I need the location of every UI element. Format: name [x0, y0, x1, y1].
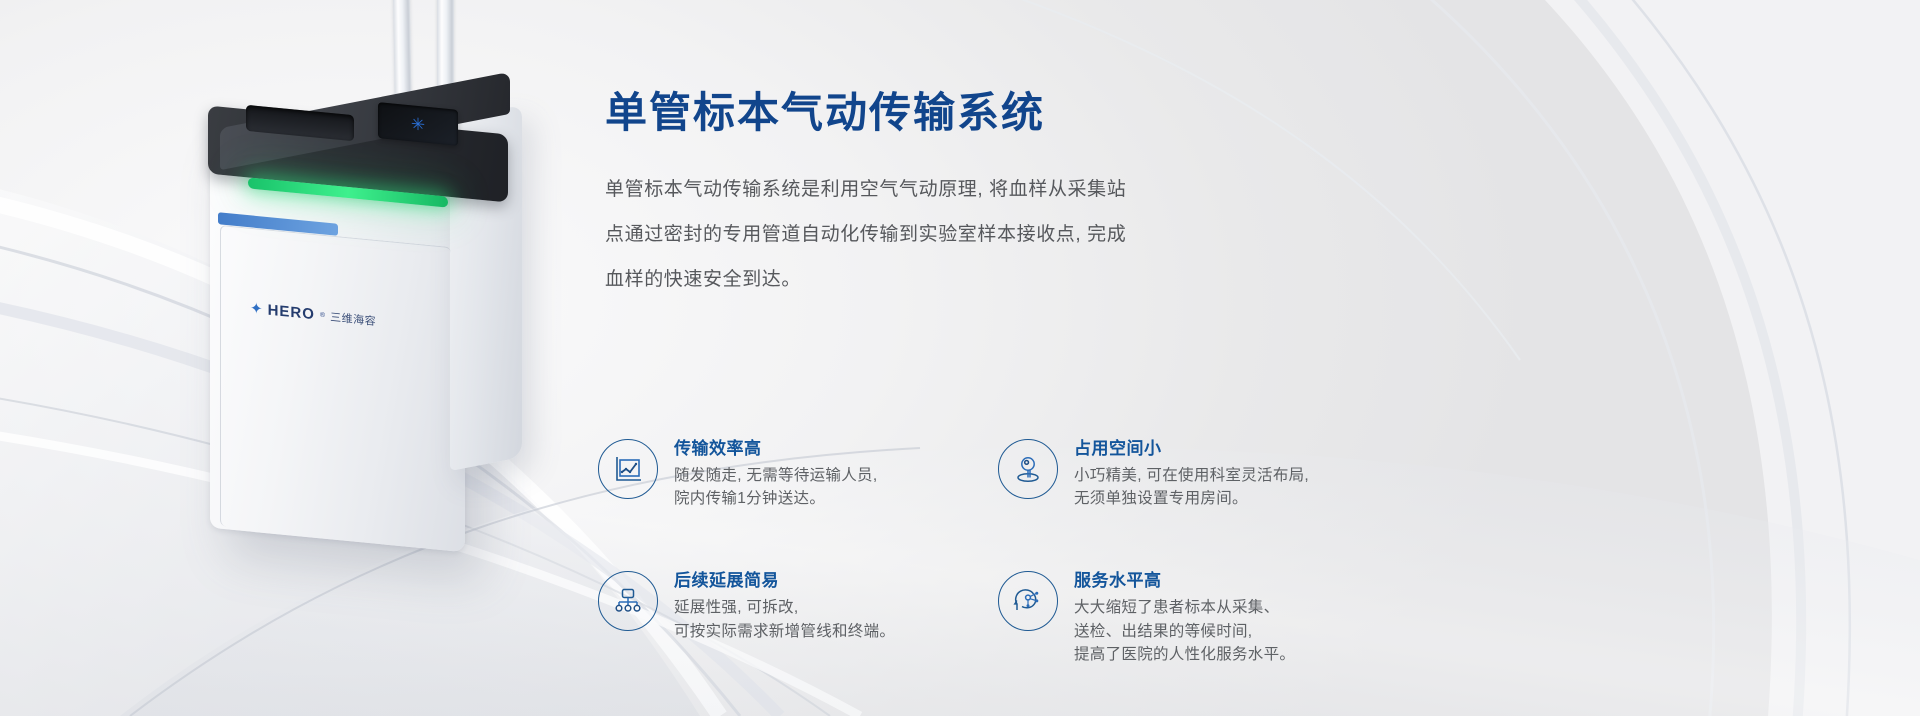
feature-text: 传输效率高 随发随走, 无需等待运输人员, 院内传输1分钟送达。: [674, 437, 877, 511]
feature-line: 提高了医院的人性化服务水平。: [1074, 643, 1295, 667]
feature-item-easy-expansion: 后续延展简易 延展性强, 可拆改, 可按实际需求新增管线和终端。: [598, 569, 998, 667]
banner-description: 单管标本气动传输系统是利用空气气动原理, 将血样从采集站 点通过密封的专用管道自…: [605, 168, 1265, 302]
product-banner: ✳ ✦ HERO ® 三维海容 单管标本气动传输系统 单管标本气动传输系统是利用…: [0, 0, 1920, 716]
description-line: 点通过密封的专用管道自动化传输到实验室样本接收点, 完成: [605, 224, 1126, 245]
brand-mark-icon: ✦: [250, 301, 263, 317]
feature-line: 可按实际需求新增管线和终端。: [674, 620, 895, 644]
page-title: 单管标本气动传输系统: [605, 88, 1305, 138]
feature-item-small-footprint: 占用空间小 小巧精美, 可在使用科室灵活布局, 无须单独设置专用房间。: [998, 437, 1298, 511]
space-pin-icon: [998, 439, 1058, 499]
brand-registered-icon: ®: [320, 312, 325, 319]
network-tree-icon: [598, 571, 658, 631]
feature-title: 传输效率高: [674, 438, 877, 461]
feature-item-transfer-efficiency: 传输效率高 随发随走, 无需等待运输人员, 院内传输1分钟送达。: [598, 437, 998, 511]
display-glyph-icon: ✳: [411, 115, 425, 133]
feature-text: 服务水平高 大大缩短了患者标本从采集、 送检、出结果的等候时间, 提高了医院的人…: [1074, 569, 1295, 667]
description-line: 单管标本气动传输系统是利用空气气动原理, 将血样从采集站: [605, 179, 1126, 200]
feature-title: 服务水平高: [1074, 570, 1295, 593]
chart-line-icon: [598, 439, 658, 499]
feature-line: 小巧精美, 可在使用科室灵活布局,: [1074, 464, 1309, 488]
feature-title: 占用空间小: [1074, 438, 1309, 461]
device-panel-seam: [220, 225, 451, 548]
feature-item-service-level: 服务水平高 大大缩短了患者标本从采集、 送检、出结果的等候时间, 提高了医院的人…: [998, 569, 1298, 667]
device-display: ✳: [378, 102, 458, 146]
feature-title: 后续延展简易: [674, 570, 895, 593]
feature-text: 占用空间小 小巧精美, 可在使用科室灵活布局, 无须单独设置专用房间。: [1074, 437, 1309, 511]
feature-line: 随发随走, 无需等待运输人员,: [674, 464, 877, 488]
description-line: 血样的快速安全到达。: [605, 269, 801, 290]
product-device-illustration: ✳ ✦ HERO ® 三维海容: [150, 0, 580, 620]
head-service-icon: [998, 571, 1058, 631]
feature-line: 院内传输1分钟送达。: [674, 487, 877, 511]
feature-line: 延展性强, 可拆改,: [674, 596, 895, 620]
feature-line: 无须单独设置专用房间。: [1074, 487, 1309, 511]
feature-grid: 传输效率高 随发随走, 无需等待运输人员, 院内传输1分钟送达。 占用空间小 小…: [598, 437, 1298, 667]
feature-text: 后续延展简易 延展性强, 可拆改, 可按实际需求新增管线和终端。: [674, 569, 895, 643]
feature-line: 大大缩短了患者标本从采集、: [1074, 596, 1295, 620]
feature-line: 送检、出结果的等候时间,: [1074, 620, 1295, 644]
banner-content: 单管标本气动传输系统 单管标本气动传输系统是利用空气气动原理, 将血样从采集站 …: [605, 88, 1305, 302]
